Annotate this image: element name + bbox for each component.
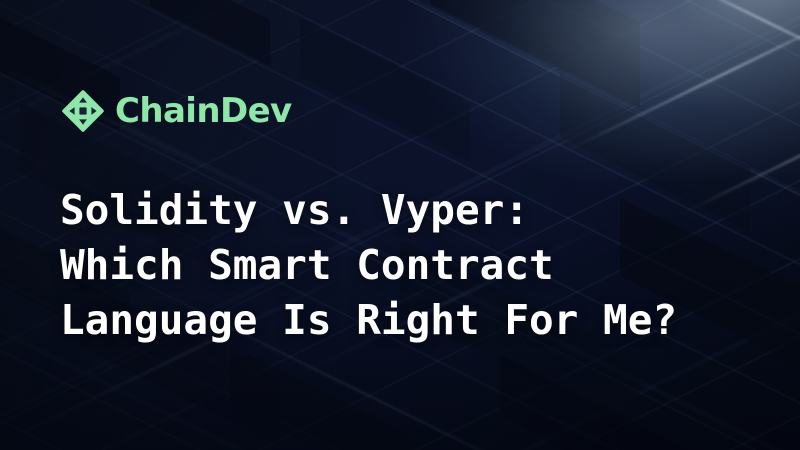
headline-line-1: Solidity vs. Vyper:: [60, 183, 760, 238]
brand-lockup[interactable]: ChainDev: [62, 90, 292, 132]
headline-line-2: Which Smart Contract: [60, 238, 760, 293]
brand-name: ChainDev: [115, 94, 292, 128]
headline: Solidity vs. Vyper: Which Smart Contract…: [60, 183, 760, 348]
headline-line-3: Language Is Right For Me?: [60, 293, 760, 348]
diamond-compass-icon: [62, 90, 104, 132]
social-card: ChainDev Solidity vs. Vyper: Which Smart…: [0, 0, 800, 450]
card-content: ChainDev Solidity vs. Vyper: Which Smart…: [0, 0, 800, 450]
